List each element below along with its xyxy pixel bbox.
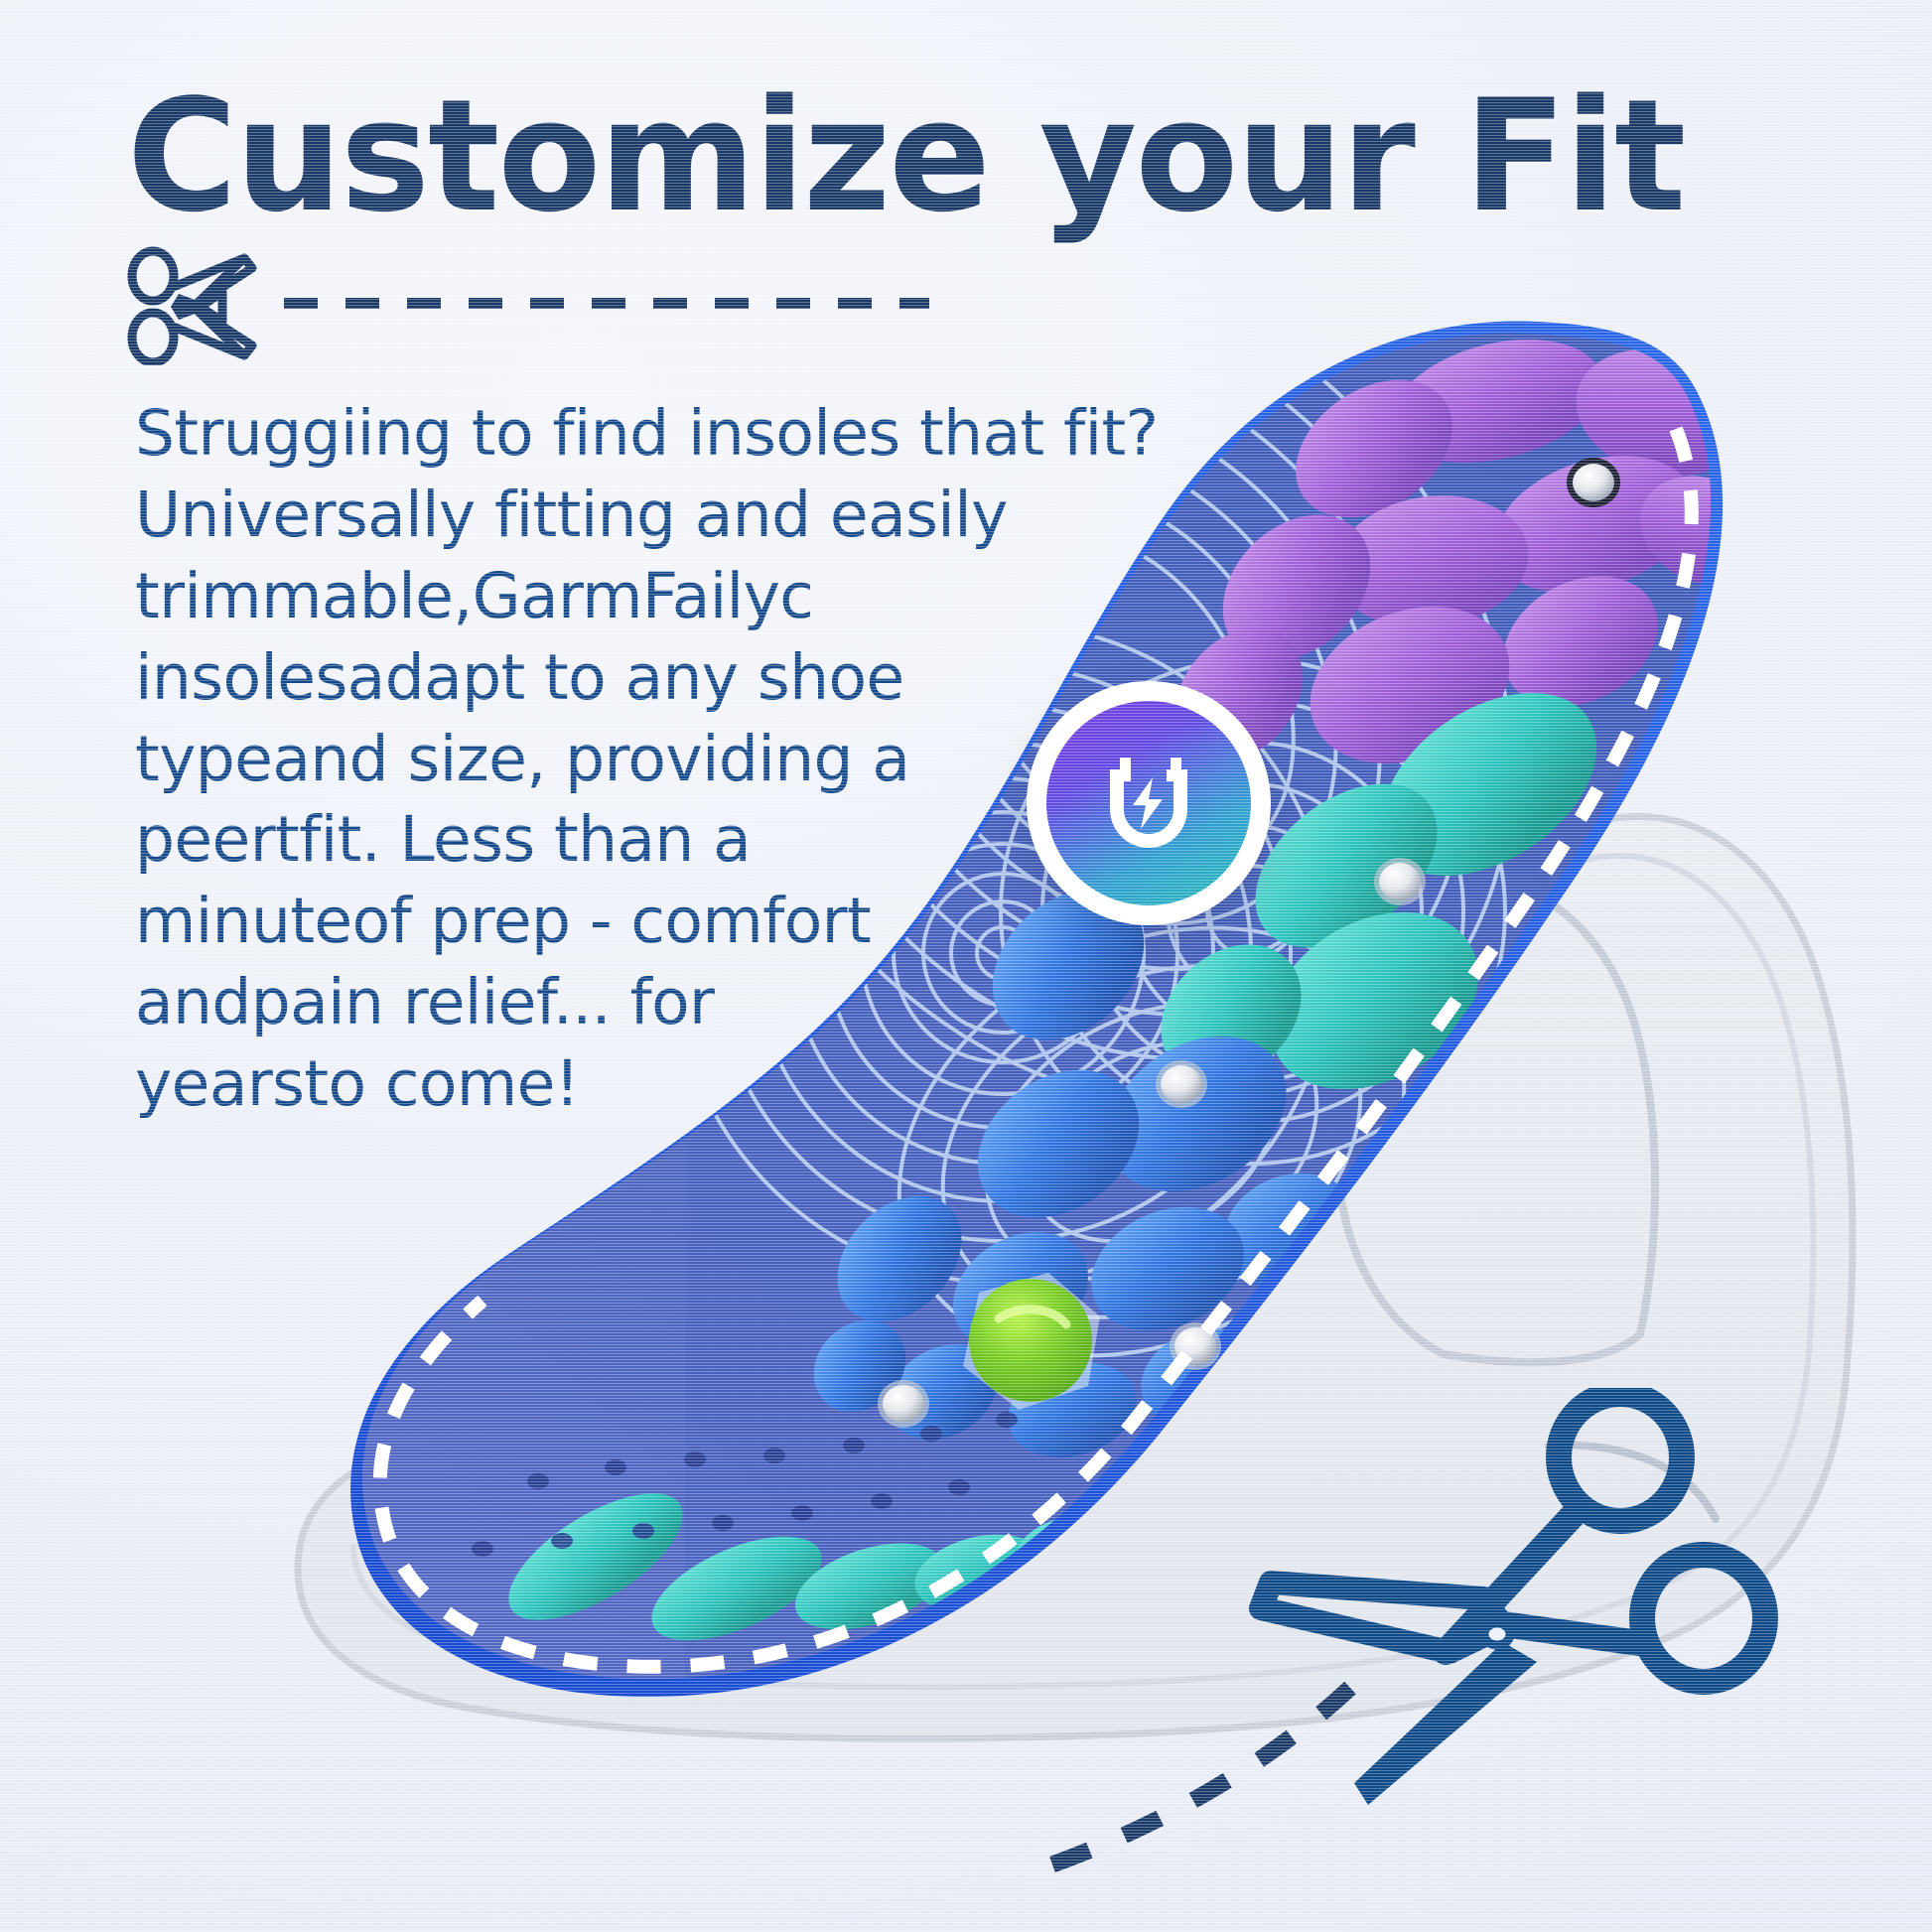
magnet-icon xyxy=(1089,744,1208,863)
scissors-icon xyxy=(1237,1388,1793,1825)
cut-dashed-line xyxy=(284,298,929,309)
cut-guide xyxy=(127,246,1021,365)
body-line: typeand size, providing a xyxy=(135,719,1009,800)
body-paragraph: Struggiing to find insoles that fit? Uni… xyxy=(135,393,1009,1125)
magnet-bead xyxy=(1374,858,1426,905)
body-line: Universally fitting and easily xyxy=(135,475,1009,556)
body-line: minuteof prep - comfort xyxy=(135,881,1009,962)
magnet-feature-badge xyxy=(1027,681,1271,925)
product-infographic-canvas: Customize your Fit Struggiing to find in… xyxy=(0,0,1932,1932)
magnet-bead xyxy=(1156,1060,1207,1108)
body-line: Struggiing to find insoles that fit? xyxy=(135,393,1009,475)
body-line: andpain relief... for xyxy=(135,962,1009,1043)
page-title: Customize your Fit xyxy=(127,77,1822,235)
body-line: insolesadapt to any shoe xyxy=(135,637,1009,719)
magnet-badge-disc xyxy=(1046,701,1251,905)
body-line: yearsto come! xyxy=(135,1043,1009,1125)
body-line: peertfit. Less than a xyxy=(135,799,1009,881)
scissors-icon xyxy=(127,246,286,365)
body-line: trimmable,GarmFailyc xyxy=(135,556,1009,637)
magnet-bead xyxy=(1567,458,1620,507)
magnet-bead xyxy=(878,1380,929,1428)
